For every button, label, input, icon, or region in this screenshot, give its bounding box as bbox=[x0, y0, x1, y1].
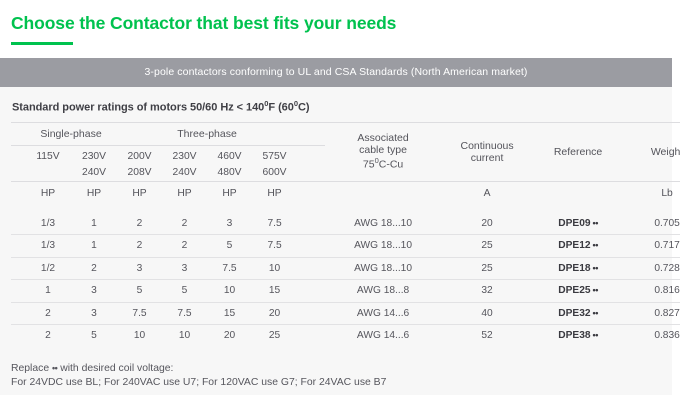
column-header-cable-type: Associated cable type 750C-Cu bbox=[325, 122, 441, 181]
voltage-240v-line2: 240V bbox=[71, 165, 117, 182]
cell-hp-575v: 15 bbox=[252, 280, 297, 303]
cell-hp-575v: 7.5 bbox=[252, 235, 297, 258]
footnote-line-2: For 24VDC use BL; For 240VAC use U7; For… bbox=[11, 376, 672, 391]
spacer-cell-gap bbox=[297, 181, 325, 206]
coil-voltage-placeholder-dots: •• bbox=[591, 263, 598, 273]
coil-voltage-placeholder-dots: •• bbox=[591, 330, 598, 340]
spacer-cell-gap bbox=[297, 325, 325, 347]
spacer-cell-gap bbox=[297, 145, 325, 165]
cell-continuous-current: 20 bbox=[441, 206, 533, 235]
coil-voltage-placeholder-dots: •• bbox=[591, 218, 598, 228]
subtitle-text-b: F (60 bbox=[268, 102, 293, 114]
cell-continuous-current: 32 bbox=[441, 280, 533, 303]
voltage-208v-line2: 208V bbox=[117, 165, 162, 182]
cell-hp-115v: 1/3 bbox=[25, 206, 71, 235]
reference-code: DPE09 bbox=[558, 218, 590, 229]
reference-code: DPE32 bbox=[558, 308, 590, 319]
cable-header-line3b: C-Cu bbox=[379, 159, 404, 171]
cell-hp-230v: 2 bbox=[71, 257, 117, 280]
unit-hp-230v3: HP bbox=[162, 181, 207, 206]
footnote-line-1: Replace •• with desired coil voltage: bbox=[11, 361, 672, 377]
cell-reference: DPE25•• bbox=[533, 280, 623, 303]
page-title: Choose the Contactor that best fits your… bbox=[11, 13, 680, 33]
panel-banner: 3-pole contactors conforming to UL and C… bbox=[0, 58, 672, 87]
spacer-cell bbox=[11, 280, 25, 303]
cell-hp-575v: 20 bbox=[252, 302, 297, 325]
cell-hp-200v: 3 bbox=[117, 257, 162, 280]
cell-hp-230v3: 10 bbox=[162, 325, 207, 347]
cell-continuous-current: 40 bbox=[441, 302, 533, 325]
unit-hp-460v: HP bbox=[207, 181, 252, 206]
cell-cable-type: AWG 18...10 bbox=[325, 257, 441, 280]
cell-cable-type: AWG 14...6 bbox=[325, 325, 441, 347]
cell-reference: DPE12•• bbox=[533, 235, 623, 258]
cell-hp-575v: 7.5 bbox=[252, 206, 297, 235]
footnote-line1-suffix: with desired coil voltage: bbox=[57, 363, 173, 374]
table-row[interactable]: 2 5 10 10 20 25 AWG 14...6 52 DPE38•• 0.… bbox=[11, 325, 680, 347]
title-accent-underline bbox=[11, 42, 73, 45]
spacer-cell-gap bbox=[297, 280, 325, 303]
cell-hp-460v: 7.5 bbox=[207, 257, 252, 280]
spacer-cell bbox=[11, 235, 25, 258]
panel-subtitle: Standard power ratings of motors 50/60 H… bbox=[0, 87, 672, 122]
voltage-575v-line1: 575V bbox=[252, 145, 297, 165]
cell-weight: 0.728 bbox=[623, 257, 680, 280]
cell-hp-200v: 10 bbox=[117, 325, 162, 347]
spacer-cell-gap bbox=[297, 302, 325, 325]
cell-reference: DPE18•• bbox=[533, 257, 623, 280]
footnote-line1-prefix: Replace bbox=[11, 363, 52, 374]
table-row[interactable]: 1 3 5 5 10 15 AWG 18...8 32 DPE25•• 0.81… bbox=[11, 280, 680, 303]
unit-weight-lb: Lb bbox=[623, 181, 680, 206]
cell-hp-460v: 15 bbox=[207, 302, 252, 325]
coil-voltage-placeholder-dots: •• bbox=[591, 285, 598, 295]
cell-continuous-current: 25 bbox=[441, 257, 533, 280]
voltage-240v3-line2: 240V bbox=[162, 165, 207, 182]
unit-hp-200v: HP bbox=[117, 181, 162, 206]
column-header-weight: Weight bbox=[623, 122, 680, 181]
cell-hp-230v: 3 bbox=[71, 280, 117, 303]
cell-hp-230v3: 7.5 bbox=[162, 302, 207, 325]
coil-voltage-placeholder-dots: •• bbox=[591, 240, 598, 250]
reference-code: DPE18 bbox=[558, 263, 590, 274]
unit-hp-575v: HP bbox=[252, 181, 297, 206]
cell-continuous-current: 25 bbox=[441, 235, 533, 258]
column-header-reference: Reference bbox=[533, 122, 623, 181]
cell-cable-type: AWG 14...6 bbox=[325, 302, 441, 325]
unit-hp-115v: HP bbox=[25, 181, 71, 206]
subtitle-text-c: C) bbox=[298, 102, 310, 114]
voltage-480v-line2: 480V bbox=[207, 165, 252, 182]
cell-hp-200v: 2 bbox=[117, 206, 162, 235]
cell-hp-230v3: 5 bbox=[162, 280, 207, 303]
cell-reference: DPE09•• bbox=[533, 206, 623, 235]
cell-hp-460v: 10 bbox=[207, 280, 252, 303]
cell-hp-200v: 5 bbox=[117, 280, 162, 303]
reference-code: DPE38 bbox=[558, 330, 590, 341]
group-header-single-phase: Single-phase bbox=[25, 122, 117, 145]
cell-hp-115v: 1/3 bbox=[25, 235, 71, 258]
spacer-cell-gap bbox=[297, 235, 325, 258]
cell-cable-type: AWG 18...8 bbox=[325, 280, 441, 303]
cell-hp-230v: 3 bbox=[71, 302, 117, 325]
cell-reference: DPE38•• bbox=[533, 325, 623, 347]
coil-voltage-footnote: Replace •• with desired coil voltage: Fo… bbox=[0, 347, 672, 391]
current-header-line2: current bbox=[471, 152, 504, 164]
voltage-230v3-line1: 230V bbox=[162, 145, 207, 165]
cell-hp-230v: 1 bbox=[71, 206, 117, 235]
cell-hp-230v3: 2 bbox=[162, 206, 207, 235]
cell-hp-200v: 7.5 bbox=[117, 302, 162, 325]
column-header-continuous-current: Continuous current bbox=[441, 122, 533, 181]
cell-hp-230v3: 2 bbox=[162, 235, 207, 258]
voltage-115v-line1: 115V bbox=[25, 145, 71, 165]
unit-hp-230v: HP bbox=[71, 181, 117, 206]
cell-weight: 0.705 bbox=[623, 206, 680, 235]
cell-weight: 0.827 bbox=[623, 302, 680, 325]
table-row[interactable]: 1/3 1 2 2 5 7.5 AWG 18...10 25 DPE12•• 0… bbox=[11, 235, 680, 258]
voltage-115v-line2 bbox=[25, 165, 71, 182]
reference-code: DPE25 bbox=[558, 285, 590, 296]
cell-hp-115v: 1/2 bbox=[25, 257, 71, 280]
unit-reference-empty bbox=[533, 181, 623, 206]
voltage-600v-line2: 600V bbox=[252, 165, 297, 182]
cell-reference: DPE32•• bbox=[533, 302, 623, 325]
table-units-row: HP HP HP HP HP HP A Lb bbox=[11, 181, 680, 206]
cell-hp-115v: 2 bbox=[25, 302, 71, 325]
spacer-cell-gap bbox=[297, 257, 325, 280]
subtitle-text-a: Standard power ratings of motors 50/60 H… bbox=[12, 102, 264, 114]
cell-hp-230v3: 3 bbox=[162, 257, 207, 280]
cell-weight: 0.836 bbox=[623, 325, 680, 347]
voltage-230v-line1: 230V bbox=[71, 145, 117, 165]
spacer-cell bbox=[11, 181, 25, 206]
current-header-line1: Continuous bbox=[461, 140, 514, 152]
cable-header-line3a: 75 bbox=[363, 159, 375, 171]
cell-hp-230v: 5 bbox=[71, 325, 117, 347]
voltage-460v-line1: 460V bbox=[207, 145, 252, 165]
table-row[interactable]: 1/2 2 3 3 7.5 10 AWG 18...10 25 DPE18•• … bbox=[11, 257, 680, 280]
unit-amps: A bbox=[441, 181, 533, 206]
cell-cable-type: AWG 18...10 bbox=[325, 235, 441, 258]
contactor-spec-table: Single-phase Three-phase Associated cabl… bbox=[11, 122, 680, 347]
spacer-cell bbox=[11, 145, 25, 165]
spacer-cell bbox=[11, 122, 25, 145]
cell-hp-200v: 2 bbox=[117, 235, 162, 258]
voltage-200v-line1: 200V bbox=[117, 145, 162, 165]
table-group-header-row: Single-phase Three-phase Associated cabl… bbox=[11, 122, 680, 145]
cell-hp-575v: 10 bbox=[252, 257, 297, 280]
spacer-cell bbox=[11, 257, 25, 280]
cell-weight: 0.717 bbox=[623, 235, 680, 258]
spacer-cell bbox=[11, 325, 25, 347]
cell-cable-type: AWG 18...10 bbox=[325, 206, 441, 235]
cell-hp-460v: 3 bbox=[207, 206, 252, 235]
spacer-cell-gap bbox=[297, 206, 325, 235]
spacer-cell-gap bbox=[297, 122, 325, 145]
unit-cable-empty bbox=[325, 181, 441, 206]
cell-hp-230v: 1 bbox=[71, 235, 117, 258]
cell-hp-575v: 25 bbox=[252, 325, 297, 347]
cable-header-line2: cable type bbox=[359, 144, 407, 156]
cable-header-line1: Associated bbox=[357, 132, 408, 144]
cell-hp-460v: 20 bbox=[207, 325, 252, 347]
cell-weight: 0.816 bbox=[623, 280, 680, 303]
spacer-cell bbox=[11, 206, 25, 235]
group-header-three-phase: Three-phase bbox=[117, 122, 297, 145]
cell-continuous-current: 52 bbox=[441, 325, 533, 347]
table-row[interactable]: 2 3 7.5 7.5 15 20 AWG 14...6 40 DPE32•• … bbox=[11, 302, 680, 325]
page-header: Choose the Contactor that best fits your… bbox=[0, 0, 680, 45]
coil-voltage-placeholder-dots: •• bbox=[591, 308, 598, 318]
spacer-cell bbox=[11, 165, 25, 182]
reference-code: DPE12 bbox=[558, 240, 590, 251]
cell-hp-115v: 1 bbox=[25, 280, 71, 303]
spec-panel: 3-pole contactors conforming to UL and C… bbox=[0, 58, 672, 395]
spacer-cell bbox=[11, 302, 25, 325]
spacer-cell-gap bbox=[297, 165, 325, 182]
cell-hp-115v: 2 bbox=[25, 325, 71, 347]
cell-hp-460v: 5 bbox=[207, 235, 252, 258]
table-row[interactable]: 1/3 1 2 2 3 7.5 AWG 18...10 20 DPE09•• 0… bbox=[11, 206, 680, 235]
